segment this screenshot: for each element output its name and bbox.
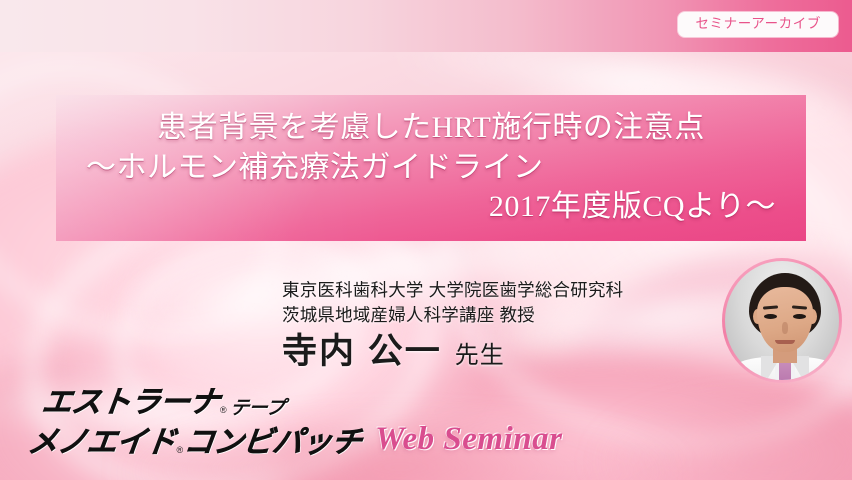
title-text-block: 患者背景を考慮したHRT施行時の注意点 ～ホルモン補充療法ガイドライン 2017… xyxy=(56,95,806,227)
portrait-nose xyxy=(782,322,788,334)
portrait-photo xyxy=(725,261,839,380)
speaker-portrait xyxy=(722,258,842,383)
product-logo-line-2: メノエイド ® コンビパッチ Web Seminar xyxy=(28,423,562,458)
portrait-necktie xyxy=(779,360,791,380)
title-banner: 患者背景を考慮したHRT施行時の注意点 ～ホルモン補充療法ガイドライン 2017… xyxy=(56,95,806,241)
title-line-1: 患者背景を考慮したHRT施行時の注意点 xyxy=(82,108,780,148)
speaker-name-honorific: 先生 xyxy=(455,344,505,368)
product-name-estrana: エストラーナ xyxy=(40,388,221,418)
product-form-tape: テープ xyxy=(228,399,285,418)
portrait-eye-right xyxy=(793,314,806,319)
portrait-ring xyxy=(722,258,842,383)
product-logo: エストラーナ ® テープ メノエイド ® コンビパッチ Web Seminar xyxy=(28,388,562,458)
product-logo-line-1: エストラーナ ® テープ xyxy=(28,388,562,418)
portrait-eye-left xyxy=(764,314,777,319)
top-bar: セミナーアーカイブ xyxy=(0,0,852,52)
product-name-menoaid: メノエイド xyxy=(26,428,177,458)
web-seminar-wordmark: Web Seminar xyxy=(375,423,562,458)
registered-trademark-icon: ® xyxy=(220,406,227,415)
portrait-mouth xyxy=(775,340,795,344)
speaker-info: 東京医科歯科大学 大学院医歯学総合研究科 茨城県地域産婦人科学講座 教授 寺内 … xyxy=(282,278,623,369)
title-line-2: ～ホルモン補充療法ガイドライン xyxy=(82,148,780,188)
title-line-3: 2017年度版CQより～ xyxy=(82,187,780,227)
speaker-affiliation-line-2: 茨城県地域産婦人科学講座 教授 xyxy=(282,303,623,328)
webinar-title-slide: セミナーアーカイブ 患者背景を考慮したHRT施行時の注意点 ～ホルモン補充療法ガ… xyxy=(0,0,852,480)
speaker-name-row: 寺内 公一 先生 xyxy=(282,334,623,369)
seminar-archive-badge[interactable]: セミナーアーカイブ xyxy=(678,12,838,37)
product-form-combipatch: コンビパッチ xyxy=(182,428,363,458)
speaker-name: 寺内 公一 xyxy=(282,334,442,369)
speaker-affiliation-line-1: 東京医科歯科大学 大学院医歯学総合研究科 xyxy=(282,278,623,303)
